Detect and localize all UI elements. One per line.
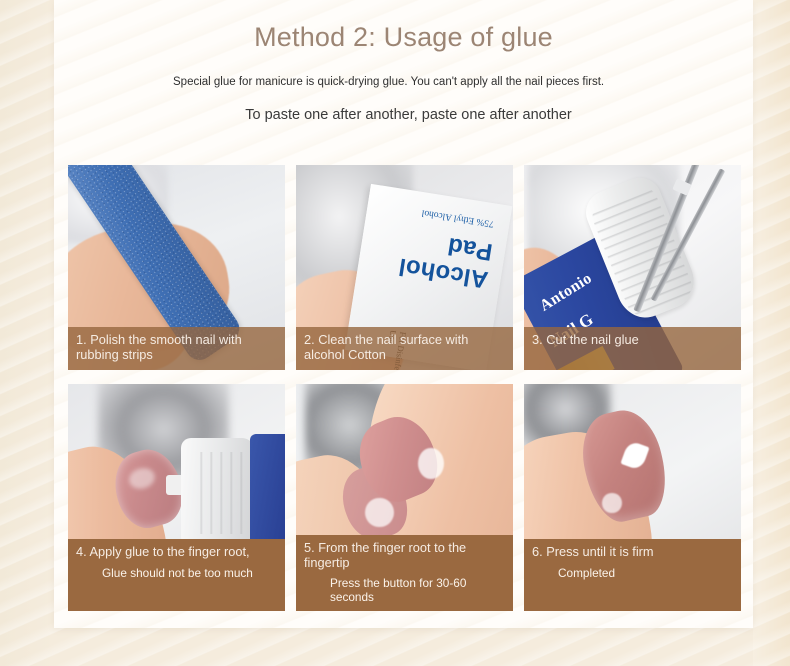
sachet-brand-label: Alcohol Pad xyxy=(357,217,494,293)
glue-drop-highlight xyxy=(602,493,622,513)
step-caption-4: 4. Apply glue to the finger root, Glue s… xyxy=(68,539,285,611)
step-tile-5[interactable]: 5. From the finger root to the fingertip… xyxy=(296,384,513,611)
caption-main-text: 6. Press until it is firm xyxy=(532,545,734,560)
caption-sub-text: Completed xyxy=(532,567,734,581)
caption-main-text: 1. Polish the smooth nail with rubbing s… xyxy=(76,333,278,362)
step-caption-1: 1. Polish the smooth nail with rubbing s… xyxy=(68,327,285,370)
caption-sub-text: Glue should not be too much xyxy=(76,567,278,581)
step-tile-2[interactable]: Alcohol Pad 75% Ethyl Alcohol For Disinf… xyxy=(296,165,513,370)
subline-paragraph: To paste one after another, paste one af… xyxy=(54,107,753,123)
caption-main-text: 4. Apply glue to the finger root, xyxy=(76,545,278,560)
caption-main-text: 2. Clean the nail surface with alcohol C… xyxy=(304,333,506,362)
page-root: Method 2: Usage of glue Special glue for… xyxy=(0,0,790,666)
page-title: Method 2: Usage of glue xyxy=(54,22,753,53)
steps-grid: 1. Polish the smooth nail with rubbing s… xyxy=(68,165,741,611)
glue-highlight-2 xyxy=(365,498,393,528)
lead-paragraph: Special glue for manicure is quick-dryin… xyxy=(173,76,620,90)
caption-main-text: 5. From the finger root to the fingertip xyxy=(304,541,506,570)
step-tile-3[interactable]: Antonio Nail G 3. Cut the nail glue xyxy=(524,165,741,370)
step-tile-4[interactable]: 4. Apply glue to the finger root, Glue s… xyxy=(68,384,285,611)
step-caption-3: 3. Cut the nail glue xyxy=(524,327,741,370)
step-caption-6: 6. Press until it is firm Completed xyxy=(524,539,741,611)
header-section: Method 2: Usage of glue Special glue for… xyxy=(54,0,753,123)
sachet-alcohol-label: 75% Ethyl Alcohol xyxy=(421,207,494,228)
glue-highlight-1 xyxy=(418,448,444,480)
caption-main-text: 3. Cut the nail glue xyxy=(532,333,734,348)
content-card: Method 2: Usage of glue Special glue for… xyxy=(54,0,753,628)
background-left-band xyxy=(0,0,54,666)
step-tile-6[interactable]: 6. Press until it is firm Completed xyxy=(524,384,741,611)
bottle-nozzle-shape xyxy=(181,438,259,547)
step-caption-5: 5. From the finger root to the fingertip… xyxy=(296,535,513,611)
bottle-brand-line1: Antonio xyxy=(537,269,596,315)
step-caption-2: 2. Clean the nail surface with alcohol C… xyxy=(296,327,513,370)
background-right-band xyxy=(753,0,790,666)
step-tile-1[interactable]: 1. Polish the smooth nail with rubbing s… xyxy=(68,165,285,370)
caption-sub-text: Press the button for 30-60 seconds xyxy=(304,577,506,604)
